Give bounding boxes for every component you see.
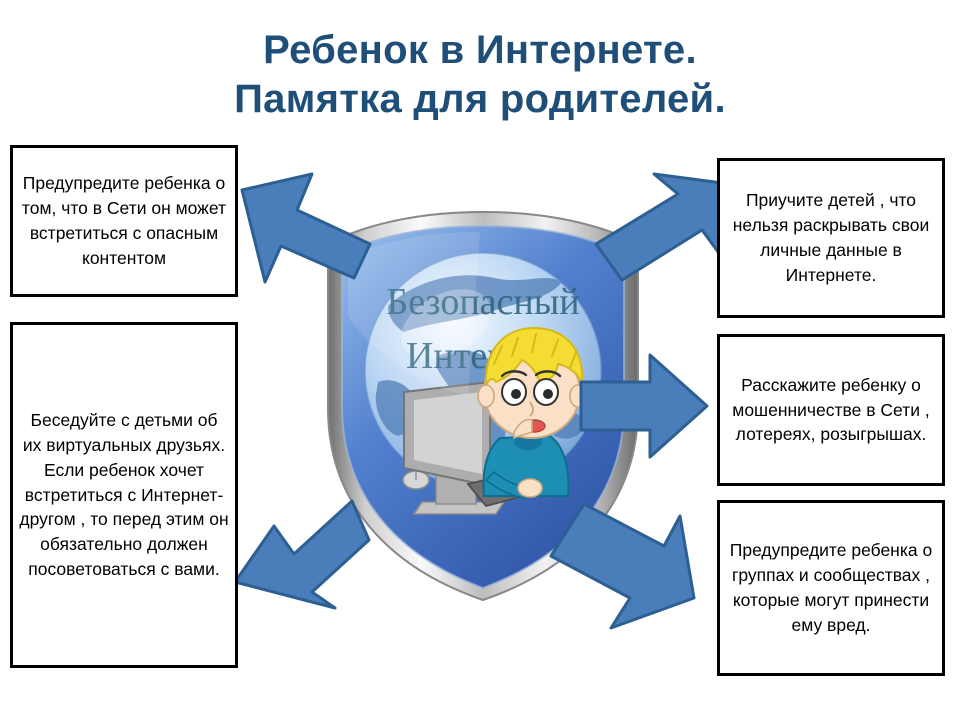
arrow-middle-right [578,352,710,460]
tip-box-right-bottom: Предупредите ребенка о группах и сообщес… [717,500,945,676]
arrow-top-right [592,168,732,293]
tip-box-right-middle: Расскажите ребенку о мошенничестве в Сет… [717,334,945,486]
page-title: Ребенок в Интернете. Памятка для родител… [0,26,960,124]
arrow-top-left [240,172,375,297]
tip-text-left-bottom: Беседуйте с детьми об их виртуальных дру… [19,408,229,582]
tip-box-left-bottom: Беседуйте с детьми об их виртуальных дру… [10,322,238,668]
tip-text-right-top: Приучите детей , что нельзя раскрывать с… [726,188,936,287]
title-line-1: Ребенок в Интернете. [0,26,960,75]
title-line-2: Памятка для родителей. [0,75,960,124]
arrow-bottom-right [548,498,698,633]
tip-box-right-top: Приучите детей , что нельзя раскрывать с… [717,158,945,318]
tip-text-right-bottom: Предупредите ребенка о группах и сообщес… [726,538,936,637]
infographic-poster: Ребенок в Интернете. Памятка для родител… [0,0,960,720]
arrow-bottom-left [232,498,372,618]
tip-text-left-top: Предупредите ребенка о том, что в Сети о… [19,171,229,270]
tip-box-left-top: Предупредите ребенка о том, что в Сети о… [10,145,238,297]
tip-text-right-middle: Расскажите ребенку о мошенничестве в Сет… [726,373,936,448]
